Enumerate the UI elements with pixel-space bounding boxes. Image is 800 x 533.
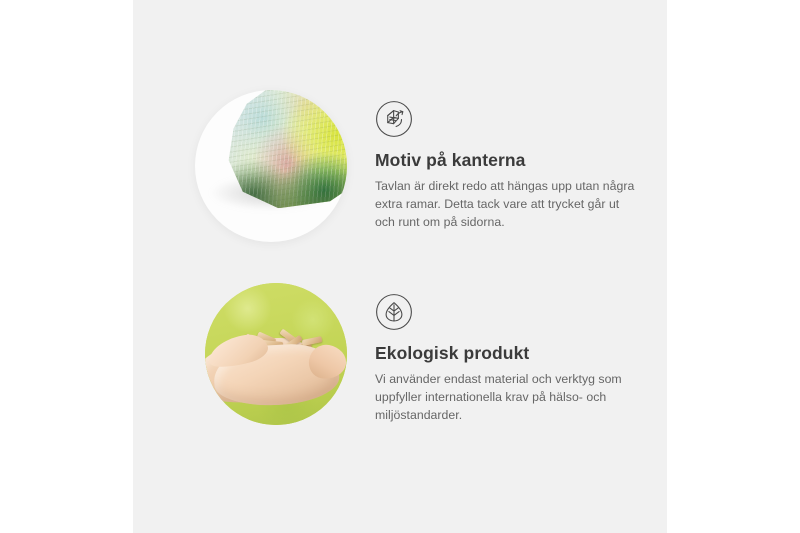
feature-media (133, 281, 347, 425)
feature-body: Vi använder endast material och verktyg … (375, 371, 637, 424)
feature-row: Ekologisk produkt Vi använder endast mat… (133, 281, 667, 425)
canvas-print-corner-photo (195, 90, 347, 242)
hands-holding-wood-chips-photo (205, 283, 347, 425)
canvas-edge-print-icon (375, 100, 413, 138)
feature-list: Motiv på kanterna Tavlan är direkt redo … (133, 0, 667, 533)
feature-title: Motiv på kanterna (375, 150, 667, 171)
feature-body: Tavlan är direkt redo att hängas upp uta… (375, 178, 637, 231)
feature-text: Ekologisk produkt Vi använder endast mat… (347, 281, 667, 424)
feature-row: Motiv på kanterna Tavlan är direkt redo … (133, 88, 667, 242)
feature-media (133, 88, 347, 242)
leaf-icon (375, 293, 413, 331)
feature-title: Ekologisk produkt (375, 343, 667, 364)
feature-text: Motiv på kanterna Tavlan är direkt redo … (347, 88, 667, 231)
product-feature-banner: Motiv på kanterna Tavlan är direkt redo … (0, 0, 800, 533)
